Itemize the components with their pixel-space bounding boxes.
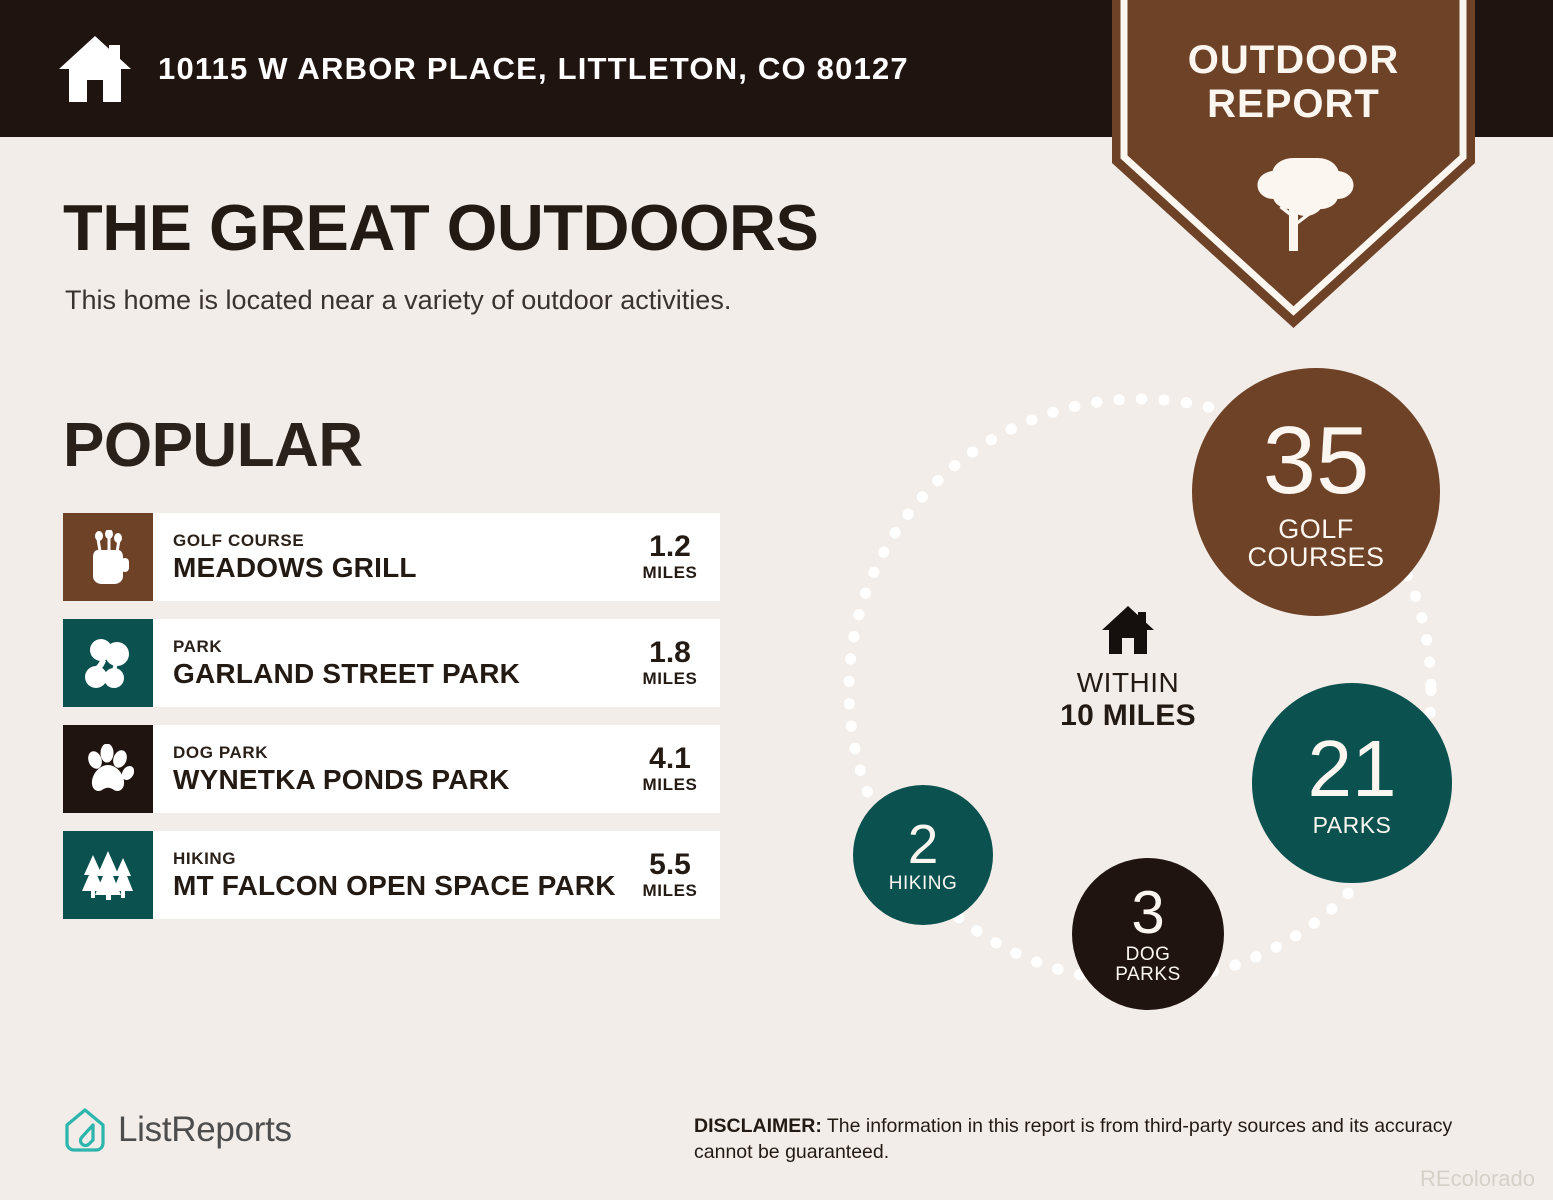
list-item[interactable]: PARK GARLAND STREET PARK 1.8 MILES — [63, 619, 720, 707]
golf-bag-icon-tile — [63, 513, 153, 601]
page-title: THE GREAT OUTDOORS — [63, 190, 818, 265]
list-item[interactable]: GOLF COURSE MEADOWS GRILL 1.2 MILES — [63, 513, 720, 601]
home-icon — [1100, 604, 1156, 656]
list-item-category: GOLF COURSE — [173, 531, 417, 551]
within-10-miles-diagram: 35 GOLF COURSES 21 PARKS 3 DOG PARKS 2 H… — [800, 340, 1500, 1040]
list-item-category: HIKING — [173, 849, 616, 869]
stat-count: 35 — [1263, 413, 1370, 509]
list-item[interactable]: HIKING MT FALCON OPEN SPACE PARK 5.5 MIL… — [63, 831, 720, 919]
home-icon — [56, 33, 134, 105]
list-item-distance: 1.8 MILES — [634, 637, 706, 689]
popular-list: GOLF COURSE MEADOWS GRILL 1.2 MILES — [63, 513, 720, 937]
stat-label-line-1: GOLF — [1247, 515, 1384, 543]
listreports-house-pen-icon — [63, 1107, 107, 1153]
stat-bubble-parks: 21 PARKS — [1252, 683, 1452, 883]
list-item-name: MEADOWS GRILL — [173, 551, 417, 584]
distance-unit: MILES — [634, 563, 706, 583]
recolorado-watermark: REcolorado — [1420, 1166, 1535, 1192]
distance-value: 4.1 — [634, 743, 706, 775]
stat-bubble-dog-parks: 3 DOG PARKS — [1072, 858, 1224, 1010]
badge-text: OUTDOOR REPORT — [1112, 38, 1475, 126]
list-item-name: WYNETKA PONDS PARK — [173, 763, 510, 796]
paw-print-icon — [82, 744, 134, 794]
listreports-wordmark: ListReports — [118, 1110, 292, 1150]
distance-value: 1.8 — [634, 637, 706, 669]
stat-count: 2 — [908, 817, 939, 872]
list-item-distance: 1.2 MILES — [634, 531, 706, 583]
popular-heading: POPULAR — [63, 410, 363, 481]
distance-value: 5.5 — [634, 849, 706, 881]
stat-bubble-golf-courses: 35 GOLF COURSES — [1192, 368, 1440, 616]
stat-count: 21 — [1308, 729, 1397, 809]
distance-unit: MILES — [634, 881, 706, 901]
pine-trees-icon-tile — [63, 831, 153, 919]
center-line-2: 10 MILES — [1060, 699, 1196, 733]
distance-unit: MILES — [634, 669, 706, 689]
listreports-logo[interactable]: ListReports — [63, 1107, 292, 1153]
park-trees-icon — [81, 637, 135, 689]
stat-label: HIKING — [889, 874, 957, 894]
stat-label-line-2: COURSES — [1247, 543, 1384, 571]
diagram-center: WITHIN 10 MILES — [1008, 604, 1248, 733]
stat-count: 3 — [1131, 883, 1164, 943]
stat-label: DOG PARKS — [1115, 945, 1181, 985]
center-line-1: WITHIN — [1077, 667, 1180, 699]
distance-unit: MILES — [634, 775, 706, 795]
disclaimer-label: DISCLAIMER: — [694, 1115, 822, 1137]
outdoor-report-badge: OUTDOOR REPORT — [1112, 0, 1475, 328]
list-item-category: PARK — [173, 637, 520, 657]
list-item-category: DOG PARK — [173, 743, 510, 763]
list-item-distance: 5.5 MILES — [634, 849, 706, 901]
golf-bag-icon — [84, 530, 132, 584]
paw-print-icon-tile — [63, 725, 153, 813]
list-item-distance: 4.1 MILES — [634, 743, 706, 795]
stat-label: PARKS — [1313, 813, 1392, 837]
stat-label-line-2: PARKS — [1115, 965, 1181, 985]
badge-line-2: REPORT — [1112, 82, 1475, 126]
list-item[interactable]: DOG PARK WYNETKA PONDS PARK 4.1 MILES — [63, 725, 720, 813]
badge-line-1: OUTDOOR — [1112, 38, 1475, 82]
disclaimer: DISCLAIMER: The information in this repo… — [694, 1113, 1494, 1165]
page-subtitle: This home is located near a variety of o… — [65, 285, 731, 316]
park-trees-icon-tile — [63, 619, 153, 707]
list-item-name: MT FALCON OPEN SPACE PARK — [173, 869, 616, 902]
distance-value: 1.2 — [634, 531, 706, 563]
pine-trees-icon — [80, 849, 136, 901]
stat-bubble-hiking: 2 HIKING — [853, 785, 993, 925]
stat-label: GOLF COURSES — [1247, 515, 1384, 572]
stat-label-line-1: DOG — [1115, 945, 1181, 965]
list-item-name: GARLAND STREET PARK — [173, 657, 520, 690]
property-address: 10115 W ARBOR PLACE, LITTLETON, CO 80127 — [158, 51, 909, 87]
